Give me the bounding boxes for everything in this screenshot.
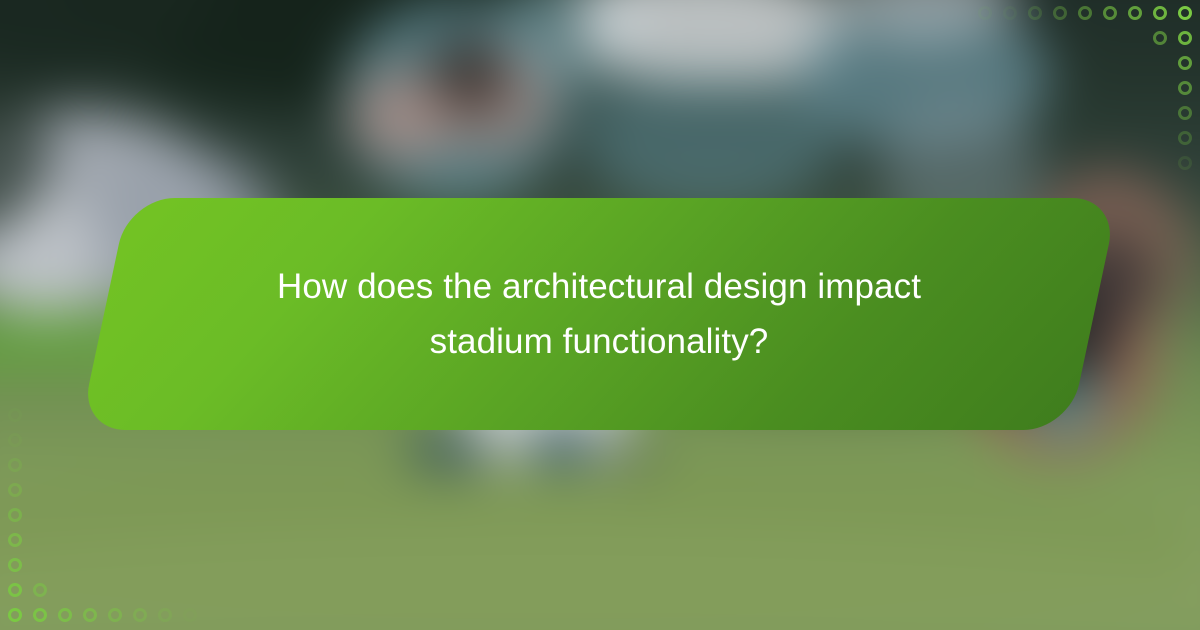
ring-dot [1178, 131, 1192, 145]
ring-dot [33, 583, 47, 597]
ring-dot [1178, 81, 1192, 95]
ring-dot [1178, 56, 1192, 70]
ring-dot [8, 483, 22, 497]
ring-dot [1178, 106, 1192, 120]
ring-dot [1178, 156, 1192, 170]
ring-dot [33, 608, 47, 622]
ring-dot [58, 608, 72, 622]
ring-dot [1103, 6, 1117, 20]
ring-dot [1128, 6, 1142, 20]
ring-dot [1153, 31, 1167, 45]
ring-dot [8, 408, 22, 422]
question-card: How does the architectural design impact… [104, 198, 1094, 430]
ring-dot [183, 608, 197, 622]
ring-dot [8, 583, 22, 597]
ring-dot [1028, 6, 1042, 20]
ring-dot [1178, 31, 1192, 45]
ring-dot [8, 433, 22, 447]
ring-dot [8, 558, 22, 572]
ring-dot [8, 533, 22, 547]
ring-dot [1153, 6, 1167, 20]
ring-dot [978, 6, 992, 20]
ring-dot [8, 508, 22, 522]
ring-dot [1053, 6, 1067, 20]
ring-dot [8, 458, 22, 472]
ring-dot [1178, 6, 1192, 20]
question-card-content: How does the architectural design impact… [104, 198, 1094, 430]
poster-canvas: How does the architectural design impact… [0, 0, 1200, 630]
ring-dot [158, 608, 172, 622]
ring-dot [1078, 6, 1092, 20]
ring-dot [133, 608, 147, 622]
question-text: How does the architectural design impact… [219, 259, 979, 370]
ring-dot [108, 608, 122, 622]
ring-dot [83, 608, 97, 622]
ring-dot [1003, 6, 1017, 20]
ring-dot [8, 608, 22, 622]
